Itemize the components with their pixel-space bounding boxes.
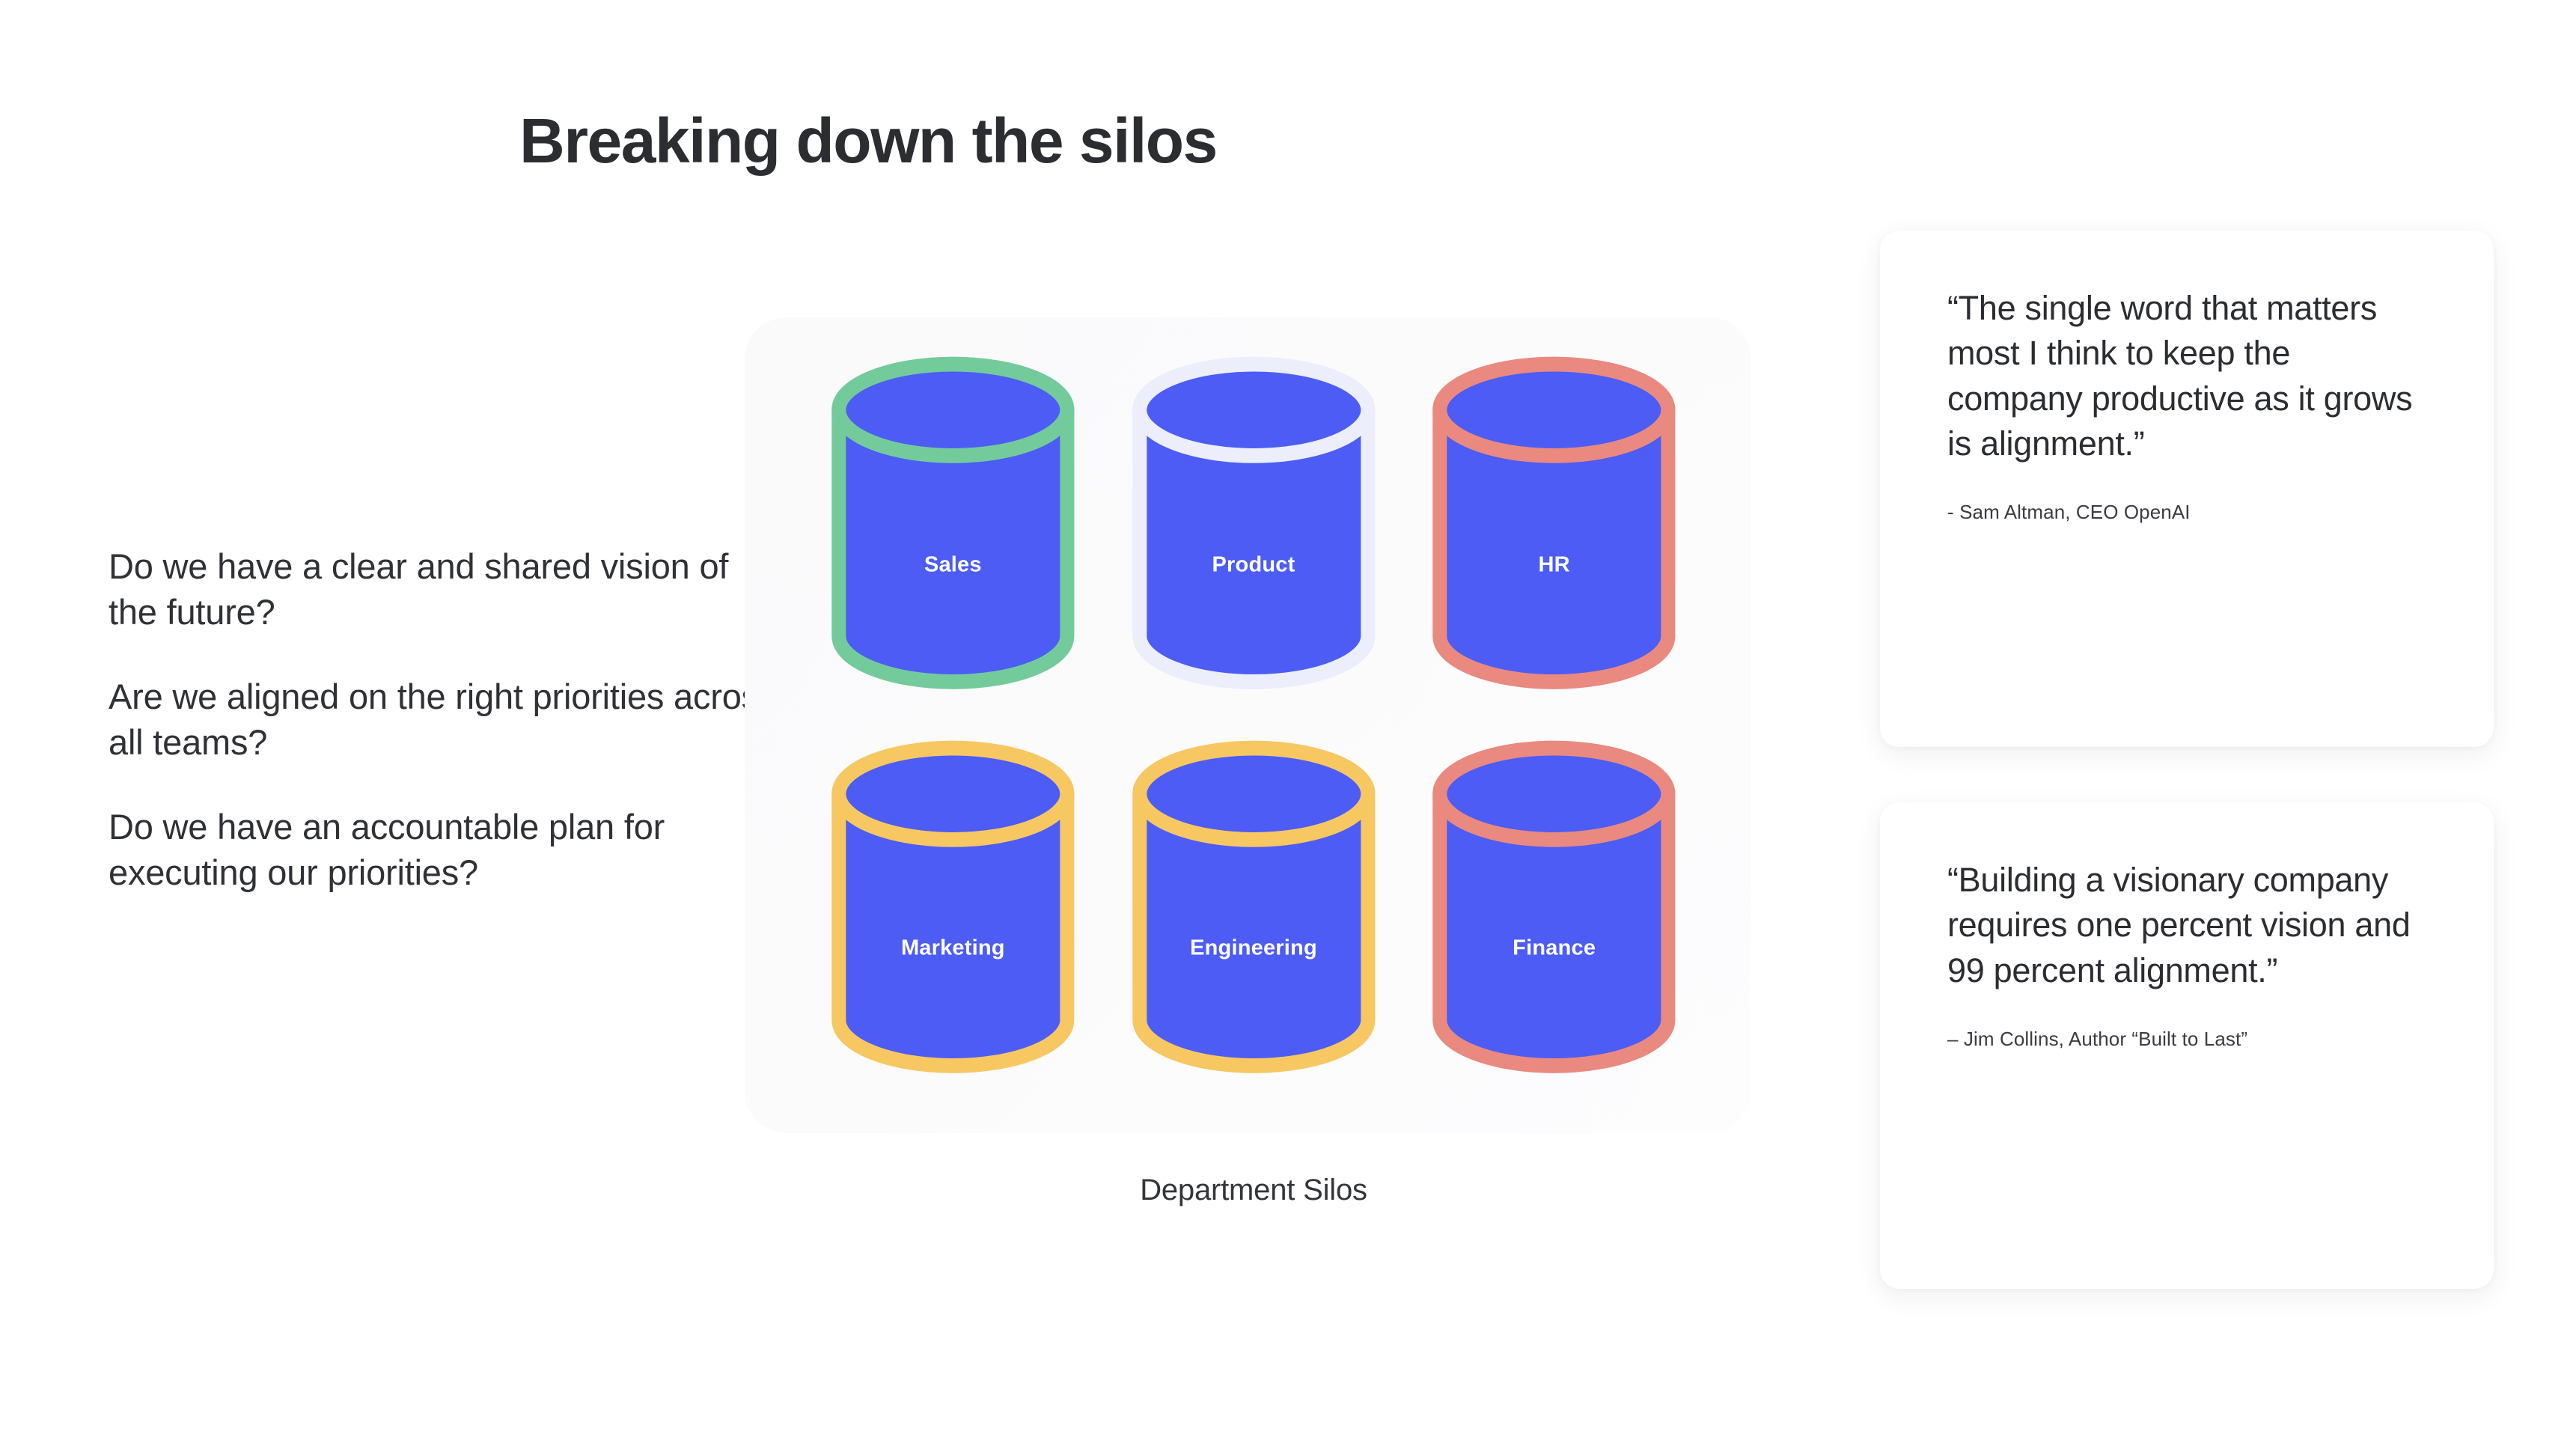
quote-text: “Building a visionary company requires o… — [1947, 858, 2426, 993]
cylinder-icon — [1424, 348, 1684, 698]
question-item: Do we have an accountable plan for execu… — [109, 804, 782, 895]
diagram-caption: Department Silos — [823, 1174, 1684, 1207]
question-item: Are we aligned on the right priorities a… — [109, 674, 782, 765]
silo-grid: Sales Product HR Marketing Engineering — [823, 348, 1684, 1082]
cylinder-icon — [1124, 732, 1384, 1082]
silo-hr[interactable]: HR — [1424, 348, 1684, 698]
silo-engineering[interactable]: Engineering — [1124, 732, 1384, 1082]
cylinder-icon — [823, 348, 1083, 698]
quote-card: “Building a visionary company requires o… — [1880, 802, 2494, 1289]
silo-sales[interactable]: Sales — [823, 348, 1083, 698]
quote-text: “The single word that matters most I thi… — [1947, 286, 2426, 466]
silo-product[interactable]: Product — [1124, 348, 1384, 698]
cylinder-icon — [823, 732, 1083, 1082]
silo-finance[interactable]: Finance — [1424, 732, 1684, 1082]
cylinder-icon — [1424, 732, 1684, 1082]
quote-card: “The single word that matters most I thi… — [1880, 231, 2494, 747]
question-item: Do we have a clear and shared vision of … — [109, 543, 782, 635]
silo-marketing[interactable]: Marketing — [823, 732, 1083, 1082]
cylinder-icon — [1124, 348, 1384, 698]
questions-list: Do we have a clear and shared vision of … — [109, 543, 782, 896]
quote-attribution: – Jim Collins, Author “Built to Last” — [1947, 1028, 2426, 1051]
quote-attribution: - Sam Altman, CEO OpenAI — [1947, 501, 2426, 524]
page-title: Breaking down the silos — [0, 106, 1736, 175]
